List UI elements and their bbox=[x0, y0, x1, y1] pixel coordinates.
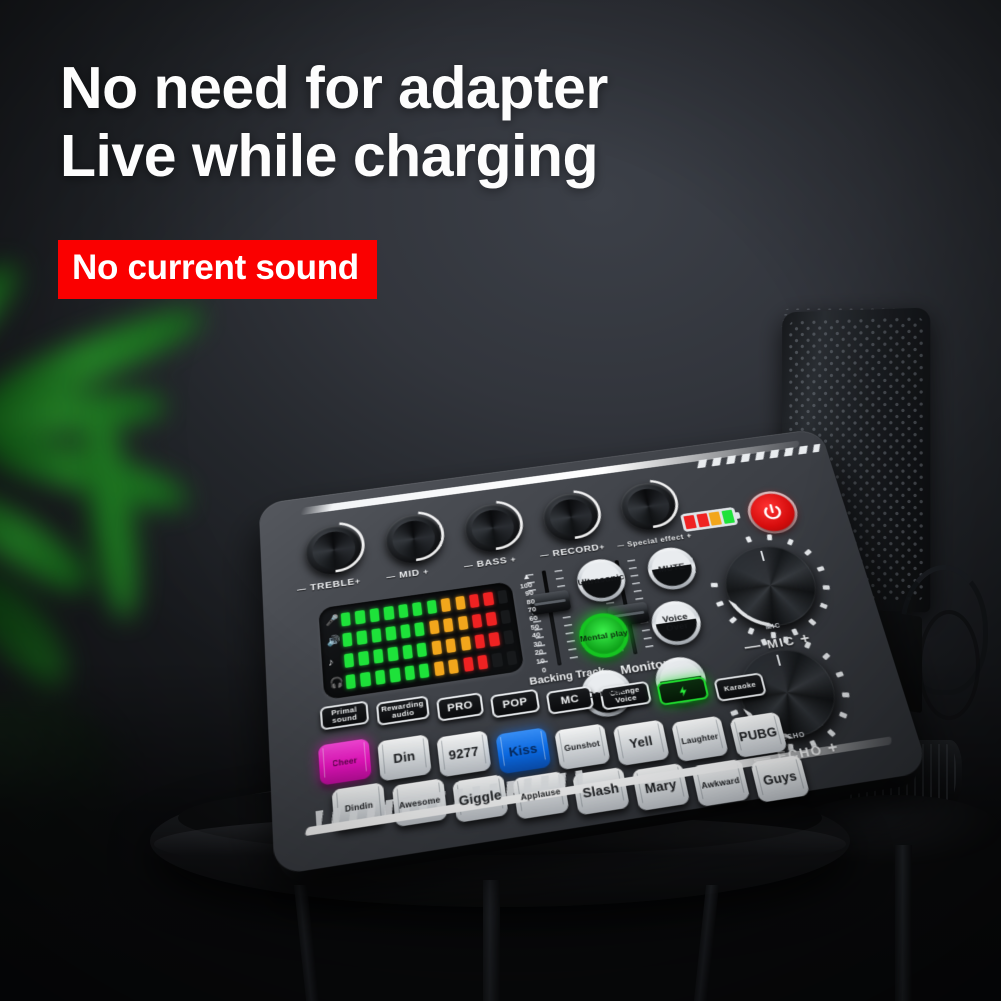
led-segment bbox=[489, 632, 500, 647]
feature-badge-text: No current sound bbox=[72, 248, 359, 287]
knob-scale-dot bbox=[743, 726, 752, 734]
led-segment bbox=[375, 670, 386, 685]
pill-button-change-voice[interactable]: Change Voice bbox=[599, 681, 652, 711]
led-rows-container bbox=[341, 588, 518, 691]
led-segment bbox=[402, 644, 413, 659]
pill-label: POP bbox=[502, 697, 528, 710]
button-mute[interactable]: MUTE bbox=[644, 545, 700, 593]
pill-label: PRO bbox=[447, 700, 474, 713]
knob-scale-dot bbox=[839, 712, 848, 719]
led-segment bbox=[477, 655, 488, 670]
knob-scale-dot bbox=[787, 538, 794, 545]
led-segment bbox=[483, 592, 494, 606]
pill-button-pro[interactable]: PRO bbox=[436, 692, 484, 722]
led-segment bbox=[492, 653, 503, 668]
microphone-icon: 🎤 bbox=[325, 612, 340, 631]
sound-pad-label: 9277 bbox=[448, 745, 480, 763]
sound-pad-label: Cheer bbox=[332, 755, 358, 768]
mic-knob-dot-ring bbox=[697, 525, 847, 650]
led-segment bbox=[355, 610, 365, 624]
sound-pad-pubg[interactable]: PUBG bbox=[729, 712, 788, 758]
knob-mid[interactable] bbox=[384, 512, 445, 567]
knob-scale-dot bbox=[748, 627, 755, 635]
table-leg bbox=[483, 880, 500, 1001]
led-segment bbox=[457, 616, 468, 631]
sound-pad-gunshot[interactable]: Gunshot bbox=[554, 723, 611, 770]
led-row bbox=[344, 628, 515, 670]
led-segment bbox=[342, 632, 352, 647]
sound-pad-label: Yell bbox=[628, 734, 654, 751]
knob-scale-dot bbox=[809, 740, 817, 748]
led-segment bbox=[414, 622, 425, 637]
knob-scale-dot bbox=[827, 729, 836, 737]
led-segment bbox=[386, 626, 397, 641]
led-segment bbox=[426, 600, 437, 614]
led-segment bbox=[400, 624, 411, 639]
knob-scale-dot bbox=[728, 616, 736, 624]
button-face bbox=[656, 658, 706, 702]
button-face bbox=[582, 671, 631, 716]
pill-button-effect-bolt[interactable] bbox=[656, 676, 709, 706]
led-segment bbox=[434, 661, 445, 676]
plant-leaf bbox=[0, 473, 99, 602]
led-segment bbox=[373, 649, 384, 664]
echo-knob-sublabel: ECHO bbox=[781, 732, 807, 743]
sound-pad-label: PUBG bbox=[738, 725, 779, 744]
knob-scale-dot bbox=[760, 639, 767, 647]
knob-label-bass: — BASS + bbox=[463, 554, 517, 571]
knob-echo-volume[interactable] bbox=[731, 644, 846, 744]
led-segment bbox=[359, 651, 370, 666]
led-segment bbox=[446, 638, 457, 653]
led-segment bbox=[474, 634, 485, 649]
button-blank[interactable] bbox=[652, 654, 711, 707]
pill-label: Change Voice bbox=[602, 684, 650, 707]
power-icon bbox=[759, 501, 787, 523]
pill-button-pop[interactable]: POP bbox=[490, 689, 540, 719]
sound-pad-label: Laughter bbox=[680, 732, 719, 746]
knob-scale-dot bbox=[716, 600, 724, 606]
knob-scale-dot bbox=[808, 618, 817, 626]
button-face bbox=[580, 614, 628, 656]
sound-pad-yell[interactable]: Yell bbox=[613, 719, 670, 766]
sound-pad-label: Din bbox=[393, 749, 416, 766]
sound-pad-laughter[interactable]: Laughter bbox=[671, 716, 729, 763]
pill-label: MC bbox=[560, 694, 580, 706]
knob-record[interactable] bbox=[540, 490, 603, 544]
led-segment bbox=[503, 630, 514, 645]
led-segment bbox=[429, 620, 440, 635]
led-segment bbox=[384, 606, 394, 620]
plant-leaf bbox=[0, 251, 29, 369]
sound-pad-mary[interactable]: Mary bbox=[632, 763, 691, 811]
knob-scale-dot bbox=[804, 549, 812, 556]
knob-scale-dot bbox=[804, 641, 811, 649]
battery-cell bbox=[683, 515, 697, 529]
led-segment bbox=[443, 618, 454, 633]
led-level-meter: 🎤 🔊 ♪ 🎧 bbox=[318, 581, 524, 700]
speaker-icon: 🔊 bbox=[326, 632, 341, 651]
knob-treble[interactable] bbox=[304, 522, 364, 578]
knob-indicator-mark bbox=[776, 655, 781, 666]
pill-button-rewarding-audio[interactable]: Rewarding audio bbox=[376, 695, 430, 726]
led-segment bbox=[463, 657, 474, 672]
button-label: Denoise bbox=[586, 686, 627, 701]
microphone-stand-pole bbox=[895, 845, 912, 1001]
mic-knob-label: — MIC + bbox=[743, 630, 814, 656]
led-segment bbox=[357, 630, 367, 645]
sound-pad-cheer[interactable]: Cheer bbox=[318, 738, 372, 785]
sound-pad-label: Gunshot bbox=[564, 739, 601, 753]
led-segment bbox=[469, 594, 480, 608]
led-segment bbox=[448, 659, 459, 674]
knob-label-special-effect: — Special effect + bbox=[616, 531, 692, 550]
led-segment bbox=[344, 653, 354, 668]
product-marketing-image: LCA 50 — TREBLE+ — bbox=[0, 0, 1001, 1001]
knob-label-record: — RECORD+ bbox=[539, 542, 606, 561]
led-segment bbox=[346, 674, 357, 689]
battery-cell bbox=[709, 511, 723, 525]
sound-pad-label: Awesome bbox=[399, 795, 441, 811]
echo-knob-label: — ECHO + bbox=[752, 739, 842, 770]
echo-knob-dot-ring bbox=[710, 626, 868, 763]
sound-pad-label: Kiss bbox=[508, 741, 538, 759]
led-segment bbox=[431, 640, 442, 655]
sound-pad-dindin[interactable]: Dindin bbox=[332, 782, 387, 831]
knob-scale-dot bbox=[730, 709, 739, 716]
scale-tick-label: 0 bbox=[519, 665, 547, 678]
button-denoise[interactable]: Denoise bbox=[578, 667, 636, 720]
pill-button-mc[interactable]: MC bbox=[546, 685, 595, 714]
led-row bbox=[345, 649, 517, 691]
pill-label: Primal sound bbox=[322, 704, 367, 727]
knob-scale-dot bbox=[823, 585, 830, 590]
led-segment bbox=[472, 614, 483, 629]
fader-label-monitor: Monitor bbox=[619, 656, 669, 677]
knob-scale-dot bbox=[711, 582, 718, 586]
knob-scale-dot bbox=[771, 632, 776, 638]
led-segment bbox=[369, 608, 379, 622]
scale-tick-label: 10 bbox=[518, 656, 546, 669]
headline-block: No need for adapter Live while charging bbox=[60, 54, 700, 190]
sound-pad-kiss[interactable]: Kiss bbox=[495, 727, 551, 774]
led-segment bbox=[398, 604, 409, 618]
headphone-icon: 🎧 bbox=[329, 674, 344, 694]
led-segment bbox=[360, 672, 371, 687]
led-segment bbox=[404, 665, 415, 680]
fader-ticks-right bbox=[554, 570, 578, 662]
scale-tick-label: 20 bbox=[517, 648, 544, 661]
led-segment bbox=[441, 598, 452, 612]
knob-scale-dot bbox=[817, 566, 825, 572]
knob-scale-dot bbox=[819, 603, 827, 610]
battery-indicator bbox=[680, 507, 738, 532]
music-note-icon: ♪ bbox=[328, 654, 335, 672]
pill-button-primal-sound[interactable]: Primal sound bbox=[320, 700, 370, 730]
knob-bass[interactable] bbox=[462, 501, 524, 556]
feature-badge: No current sound bbox=[58, 240, 377, 299]
sound-pad-label: Dindin bbox=[345, 800, 374, 814]
led-segment bbox=[460, 636, 471, 651]
knob-scale-dot bbox=[788, 744, 794, 751]
pill-label: Karaoke bbox=[723, 681, 757, 694]
battery-cell bbox=[721, 510, 735, 524]
knob-scale-dot bbox=[725, 689, 732, 694]
fader-backing-track[interactable] bbox=[534, 569, 570, 667]
led-segment bbox=[390, 668, 401, 683]
knob-label-treble: — TREBLE+ bbox=[297, 576, 361, 595]
knob-scale-dot bbox=[836, 671, 845, 678]
headline-line-1: No need for adapter bbox=[60, 54, 700, 122]
knob-label-mid: — MID + bbox=[386, 566, 430, 582]
knob-scale-dot bbox=[842, 692, 850, 697]
knob-scale-dot bbox=[745, 536, 752, 543]
plant-leaf bbox=[76, 418, 147, 622]
scale-tick-label: 40 bbox=[514, 631, 541, 643]
lightning-bolt-icon bbox=[674, 682, 691, 700]
fader-label-backing-track: Backing Track bbox=[529, 665, 606, 687]
led-segment bbox=[455, 596, 466, 610]
led-segment bbox=[412, 602, 423, 616]
led-segment bbox=[486, 612, 497, 626]
scale-tick-label: 30 bbox=[515, 639, 542, 651]
knob-scale-dot bbox=[822, 653, 831, 661]
led-segment bbox=[417, 642, 428, 657]
knob-special-effect[interactable] bbox=[617, 480, 681, 533]
knob-scale-dot bbox=[783, 636, 788, 643]
button-voice-over[interactable]: Voice Over bbox=[648, 598, 706, 648]
pill-button-karaoke[interactable]: Karaoke bbox=[713, 672, 767, 702]
led-segment bbox=[388, 647, 399, 662]
knob-scale-dot bbox=[764, 739, 771, 747]
headline-line-2: Live while charging bbox=[60, 122, 700, 190]
sound-pad-9277[interactable]: 9277 bbox=[436, 731, 491, 778]
shock-mount-inner bbox=[918, 610, 980, 720]
led-segment bbox=[341, 612, 351, 626]
knob-scale-dot bbox=[767, 534, 772, 540]
led-segment bbox=[506, 650, 517, 665]
battery-cell bbox=[696, 513, 710, 527]
knob-scale-dot bbox=[791, 629, 799, 636]
sound-pad-grid: CheerDin9277KissGunshotYellLaughterPUBGD… bbox=[259, 428, 820, 504]
led-segment bbox=[419, 663, 430, 678]
pill-label: Rewarding audio bbox=[378, 699, 427, 722]
sound-pad-din[interactable]: Din bbox=[377, 734, 432, 781]
led-segment bbox=[371, 628, 382, 643]
